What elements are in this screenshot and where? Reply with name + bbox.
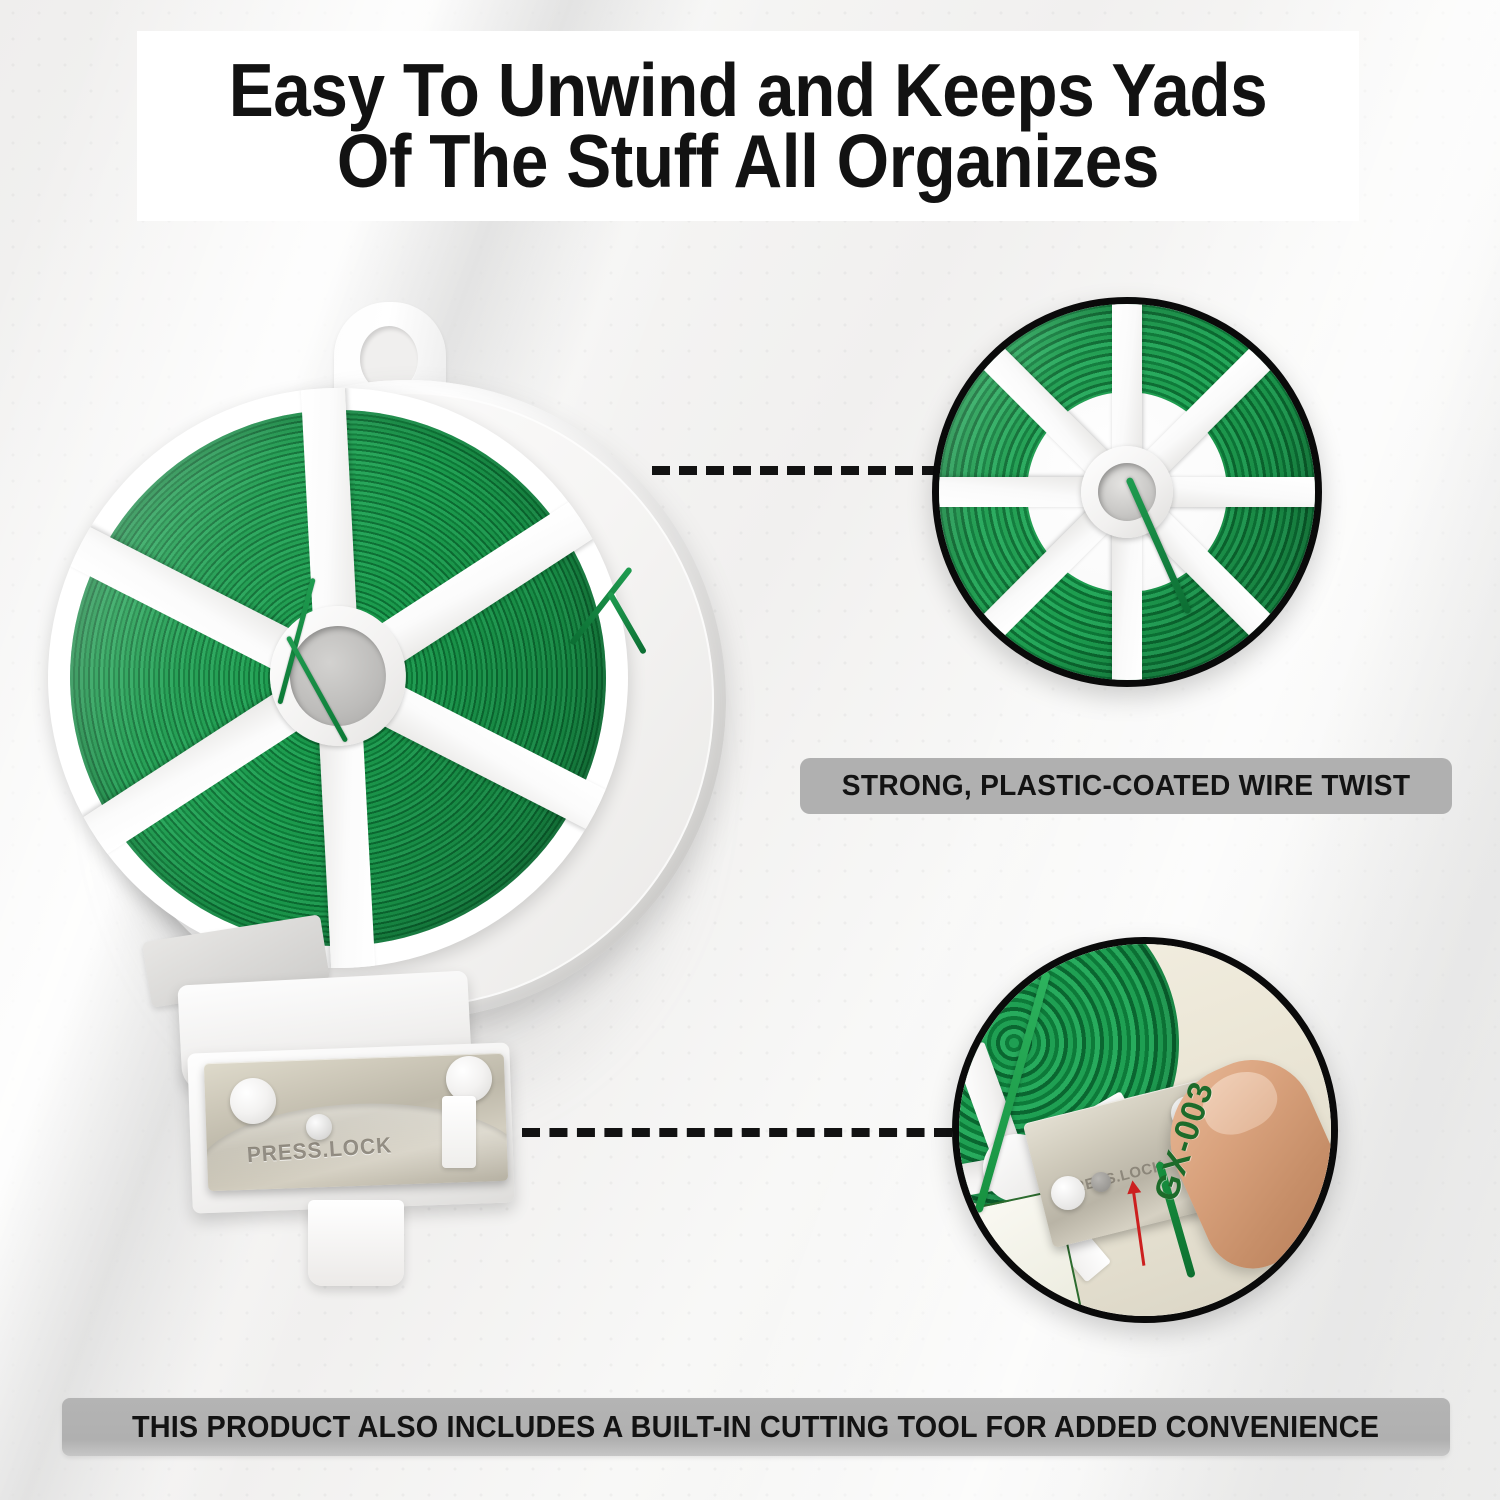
footer-banner: THIS PRODUCT ALSO INCLUDES A BUILT-IN CU… xyxy=(62,1398,1450,1456)
callout-badge-wire: STRONG, PLASTIC-COATED WIRE TWIST xyxy=(800,758,1452,814)
callout-connector-bottom xyxy=(522,1128,952,1137)
reel-foot-tab xyxy=(308,1200,404,1286)
inset-cutter-pin xyxy=(1091,1172,1111,1192)
headline-line-2: Of The Stuff All Organizes xyxy=(229,126,1268,197)
inset-cutting-demo: 5 PRESS.LOCK GX-003 xyxy=(952,937,1338,1323)
inset-hub-closeup xyxy=(932,297,1322,687)
inset-cutter-rivet xyxy=(1051,1176,1085,1210)
card-number: 5 xyxy=(967,1265,1000,1317)
cutter-pin xyxy=(306,1114,332,1140)
cutter-slot xyxy=(442,1096,476,1168)
headline-banner: Easy To Unwind and Keeps Yads Of The Stu… xyxy=(137,31,1359,221)
product-image-main: PRESS.LOCK xyxy=(38,288,738,1318)
footer-banner-label: THIS PRODUCT ALSO INCLUDES A BUILT-IN CU… xyxy=(132,1409,1379,1445)
infographic-canvas: Easy To Unwind and Keeps Yads Of The Stu… xyxy=(0,0,1500,1500)
card-stripe xyxy=(952,1233,985,1245)
callout-badge-wire-label: STRONG, PLASTIC-COATED WIRE TWIST xyxy=(842,770,1411,803)
cutter-rivet xyxy=(230,1078,276,1124)
page-title: Easy To Unwind and Keeps Yads Of The Stu… xyxy=(220,55,1277,198)
callout-connector-top xyxy=(652,466,940,475)
